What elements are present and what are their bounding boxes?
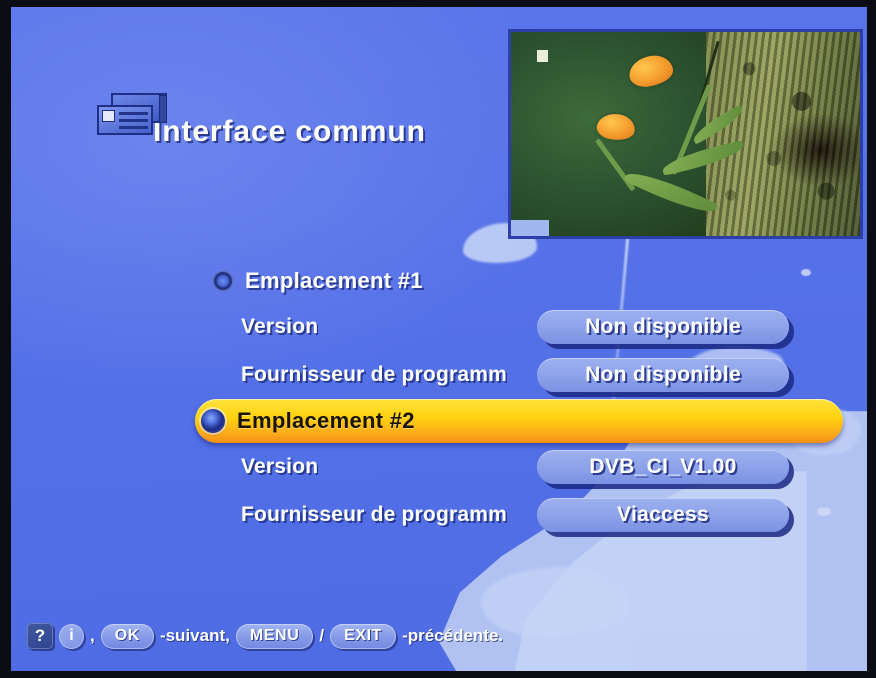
ci-card-edge <box>159 95 167 123</box>
field-row-slot2-version: Version DVB_CI_V1.00 <box>207 443 855 491</box>
pip-corner-shadow <box>508 220 549 239</box>
pip-highlight-glint <box>537 50 548 62</box>
field-label-slot2-version: Version <box>241 455 318 479</box>
info-icon[interactable]: i <box>59 624 84 649</box>
radio-icon-slot-1[interactable] <box>213 271 233 291</box>
help-separator-slash: / <box>319 626 324 646</box>
pip-flower-2 <box>595 111 637 143</box>
help-separator-comma: , <box>90 626 95 646</box>
ci-card-chip <box>102 110 115 122</box>
slot-row-2[interactable]: Emplacement #2 <box>195 399 843 443</box>
field-label-slot2-provider: Fournisseur de programm <box>241 503 507 527</box>
field-value-slot2-version[interactable]: DVB_CI_V1.00 <box>537 450 789 484</box>
tv-screen-frame: Interface commun Emplac <box>0 0 876 678</box>
question-mark-icon[interactable]: ? <box>27 623 53 649</box>
ci-module-icon <box>97 93 169 145</box>
field-value-slot2-provider[interactable]: Viaccess <box>537 498 789 532</box>
help-bar: ? i , OK -suivant, MENU / EXIT -précéden… <box>27 623 503 649</box>
ci-card-line-3 <box>119 126 148 129</box>
exit-key-description: -précédente. <box>402 626 503 646</box>
ci-card-line-2 <box>119 119 148 122</box>
pip-tree-bark <box>706 32 860 236</box>
field-value-slot1-version[interactable]: Non disponible <box>537 310 789 344</box>
picture-in-picture-video[interactable] <box>508 29 863 239</box>
field-row-slot1-provider: Fournisseur de programm Non disponible <box>207 351 855 399</box>
background-cloud-blob-d <box>481 567 631 637</box>
exit-key-hint[interactable]: EXIT <box>330 624 396 649</box>
field-label-slot1-version: Version <box>241 315 318 339</box>
slot-label-2: Emplacement #2 <box>237 408 415 434</box>
page-title-row: Interface commun <box>97 93 426 147</box>
ok-key-description: -suivant, <box>160 626 230 646</box>
slot-row-1[interactable]: Emplacement #1 <box>207 259 855 303</box>
common-interface-menu: Emplacement #1 Version Non disponible Fo… <box>207 259 855 539</box>
field-row-slot2-provider: Fournisseur de programm Viaccess <box>207 491 855 539</box>
radio-icon-slot-2[interactable] <box>201 409 225 433</box>
pip-flower-1 <box>627 53 675 89</box>
page-title: Interface commun <box>153 117 426 147</box>
menu-key-hint[interactable]: MENU <box>236 624 314 649</box>
osd-root: Interface commun Emplac <box>11 7 867 671</box>
field-label-slot1-provider: Fournisseur de programm <box>241 363 507 387</box>
field-row-slot1-version: Version Non disponible <box>207 303 855 351</box>
slot-label-1: Emplacement #1 <box>245 268 423 294</box>
pip-video-content <box>511 32 860 236</box>
ok-key-hint[interactable]: OK <box>101 624 154 649</box>
ci-card-line-1 <box>119 112 148 115</box>
field-value-slot1-provider[interactable]: Non disponible <box>537 358 789 392</box>
